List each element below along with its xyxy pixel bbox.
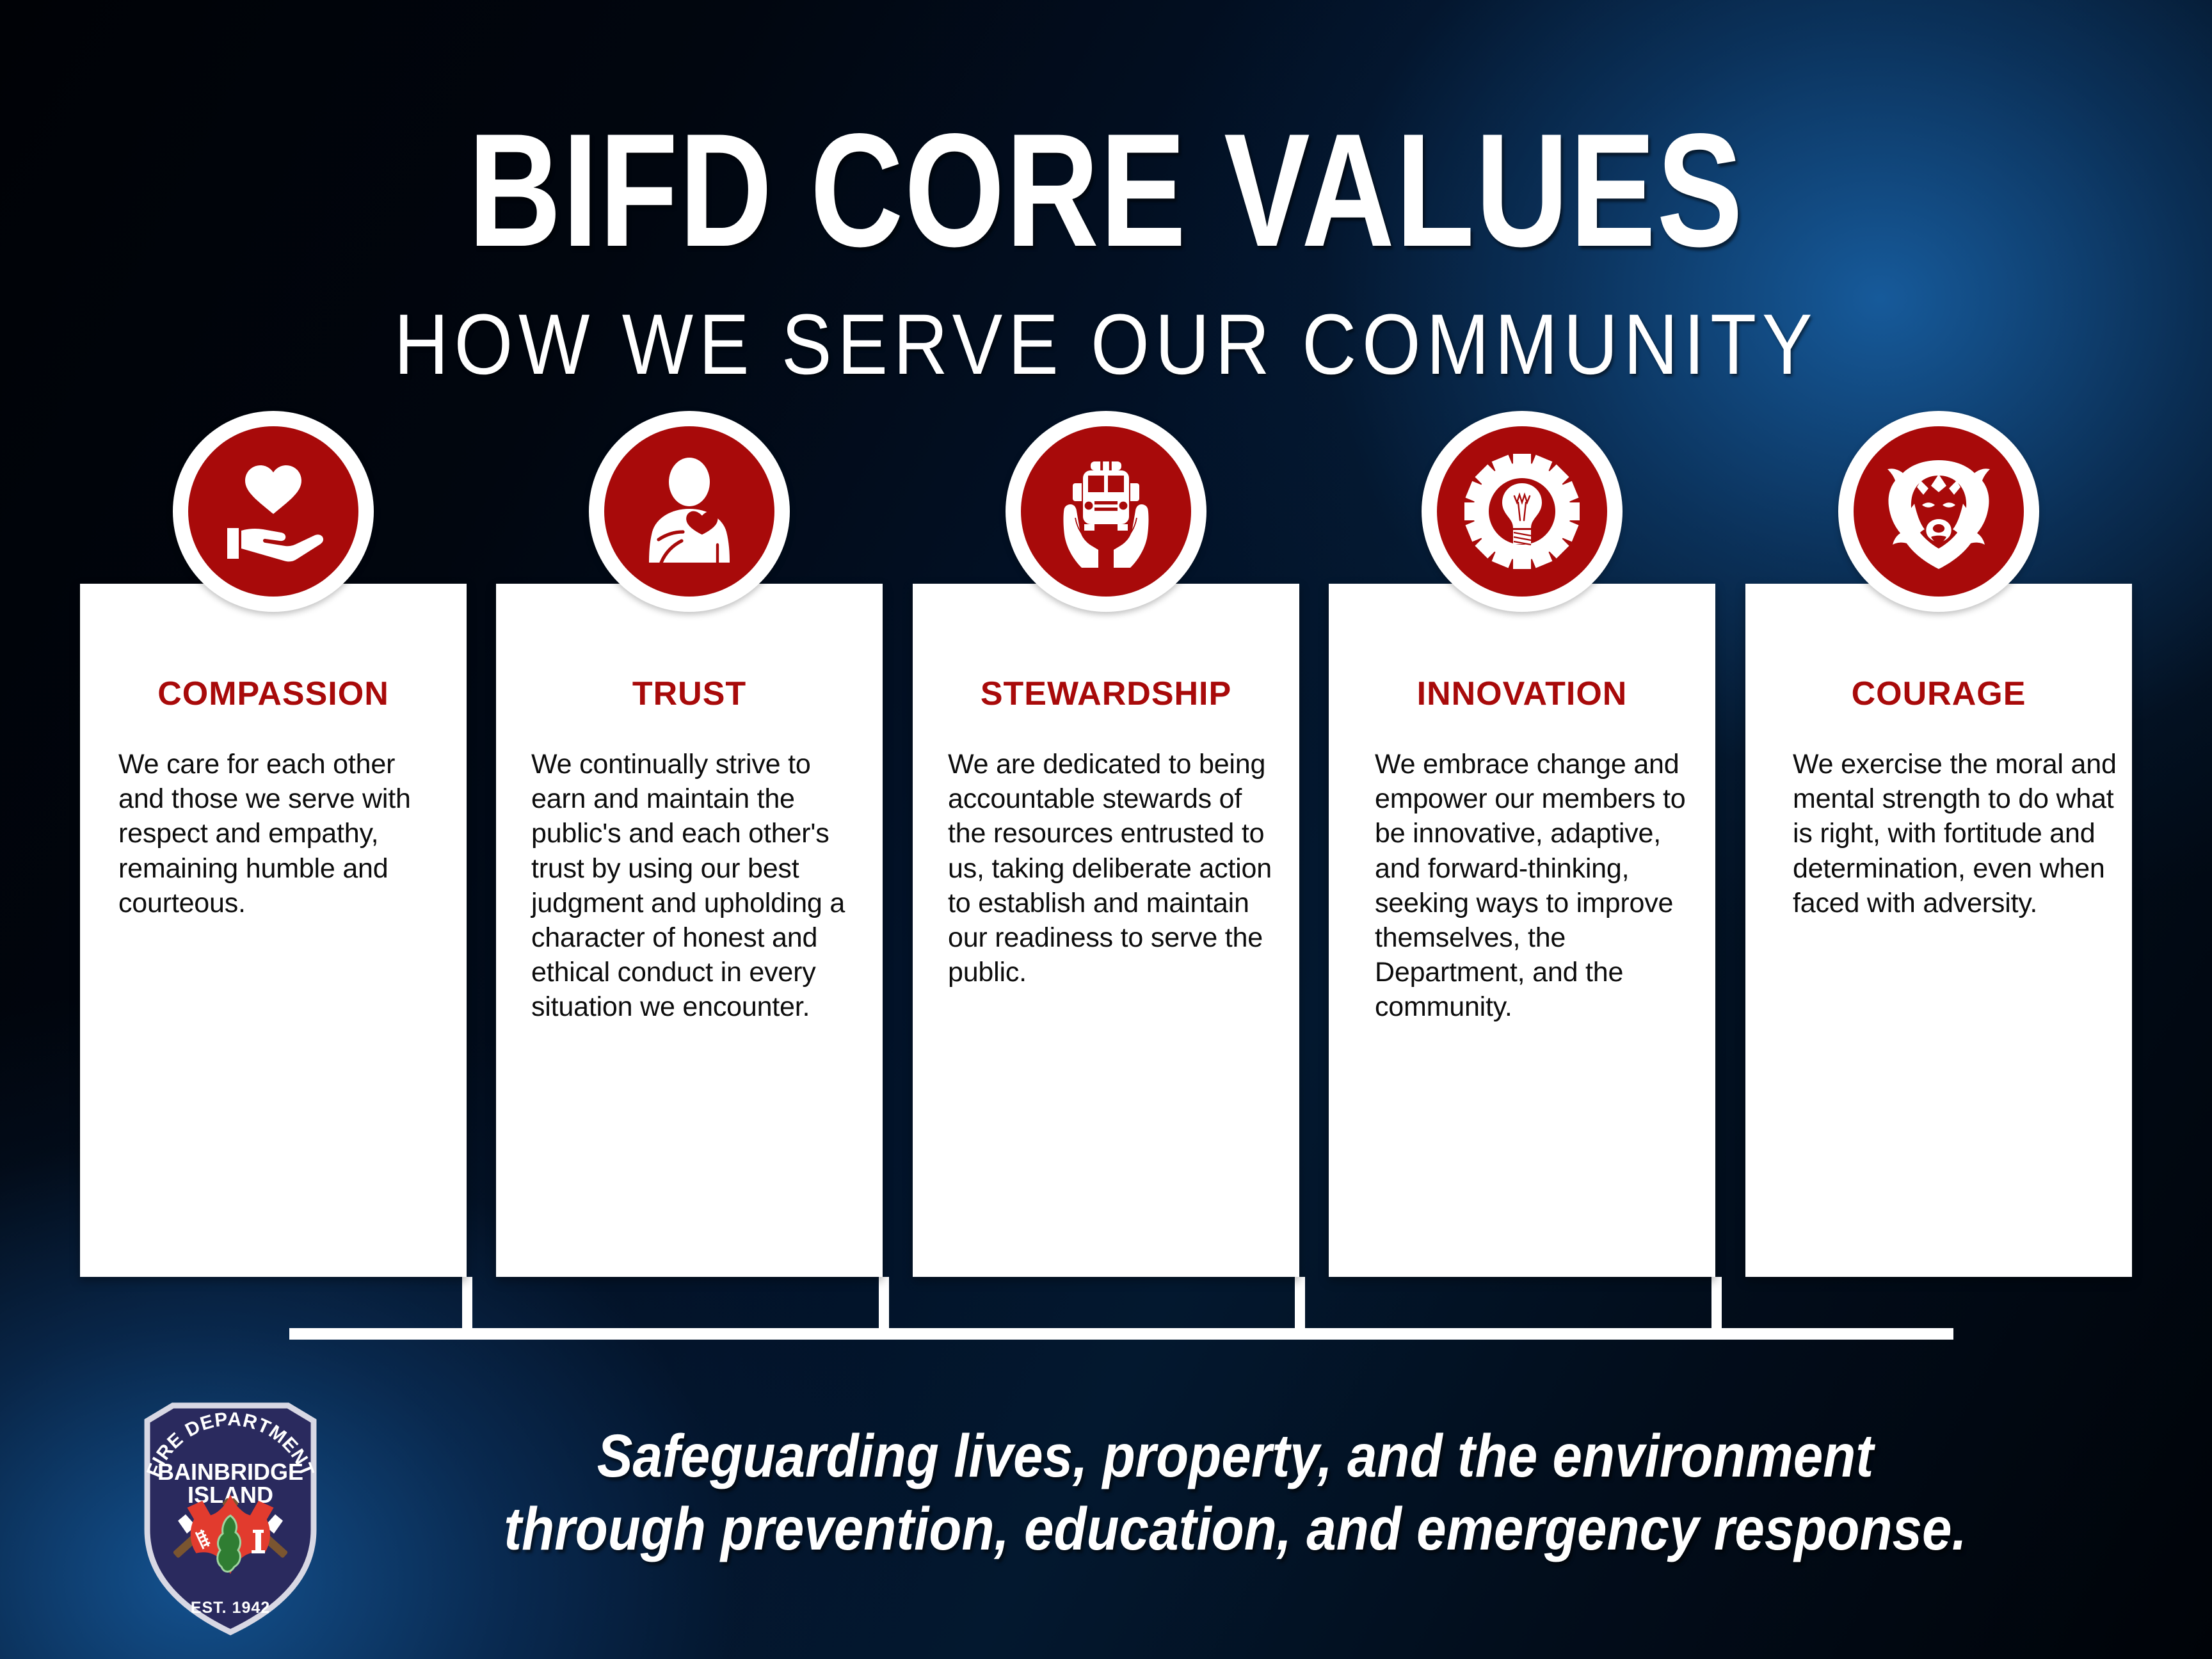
value-card-compassion: COMPASSION We care for each other and th… [80,584,467,1277]
value-title: TRUST [496,675,883,713]
values-card-row: COMPASSION We care for each other and th… [0,584,2212,1278]
bifd-badge-logo: FIRE DEPARTMENT BAINBRIDGE ISLAND [128,1402,333,1639]
page-footer: FIRE DEPARTMENT BAINBRIDGE ISLAND [0,1389,2212,1645]
value-card-innovation: INNOVATION We embrace change and empower… [1329,584,1715,1277]
connector-stem [1295,1277,1305,1329]
connector-end-left [289,1328,300,1340]
icon-badge-stewardship [1006,411,1206,612]
card-connector-bracket [0,1277,2212,1360]
value-body: We are dedicated to being accountable st… [948,747,1281,990]
value-title: COMPASSION [80,675,467,713]
icon-disc [1021,426,1191,597]
icon-badge-courage [1838,411,2039,612]
icon-disc [1437,426,1607,597]
value-card-trust: TRUST We continually strive to earn and … [496,584,883,1277]
fire-truck-in-hands-icon [1042,447,1170,575]
page-subtitle: HOW WE SERVE OUR COMMUNITY [132,302,2079,388]
connector-stem [1711,1277,1722,1329]
value-title: INNOVATION [1329,675,1715,713]
icon-disc [1854,426,2024,597]
badge-line1: BAINBRIDGE [157,1459,303,1485]
page-title: BIFD CORE VALUES [221,110,1991,271]
page-header: BIFD CORE VALUES HOW WE SERVE OUR COMMUN… [0,0,2212,388]
connector-horizontal-bar [289,1328,1953,1340]
heart-in-hand-icon [209,447,337,575]
value-body: We embrace change and empower our member… [1375,747,1704,1024]
hand-over-heart-person-icon [625,447,753,575]
value-card-stewardship: STEWARDSHIP We are dedicated to being ac… [913,584,1299,1277]
icon-badge-trust [589,411,790,612]
value-title: STEWARDSHIP [913,675,1299,713]
value-body: We continually strive to earn and mainta… [531,747,865,1024]
lion-head-icon [1875,447,2003,575]
icon-disc [604,426,774,597]
connector-stem [879,1277,889,1329]
lightbulb-in-gear-icon [1458,447,1586,575]
connector-stem [462,1277,472,1329]
value-body: We exercise the moral and mental strengt… [1793,747,2117,920]
value-body: We care for each other and those we serv… [118,747,440,920]
value-card-courage: COURAGE We exercise the moral and mental… [1745,584,2132,1277]
badge-established: EST. 1942 [191,1599,270,1617]
icon-disc [188,426,358,597]
connector-end-right [1943,1328,1953,1340]
mission-tagline: Safeguarding lives, property, and the en… [497,1420,1973,1566]
icon-badge-compassion [173,411,374,612]
icon-badge-innovation [1422,411,1623,612]
value-title: COURAGE [1745,675,2132,713]
